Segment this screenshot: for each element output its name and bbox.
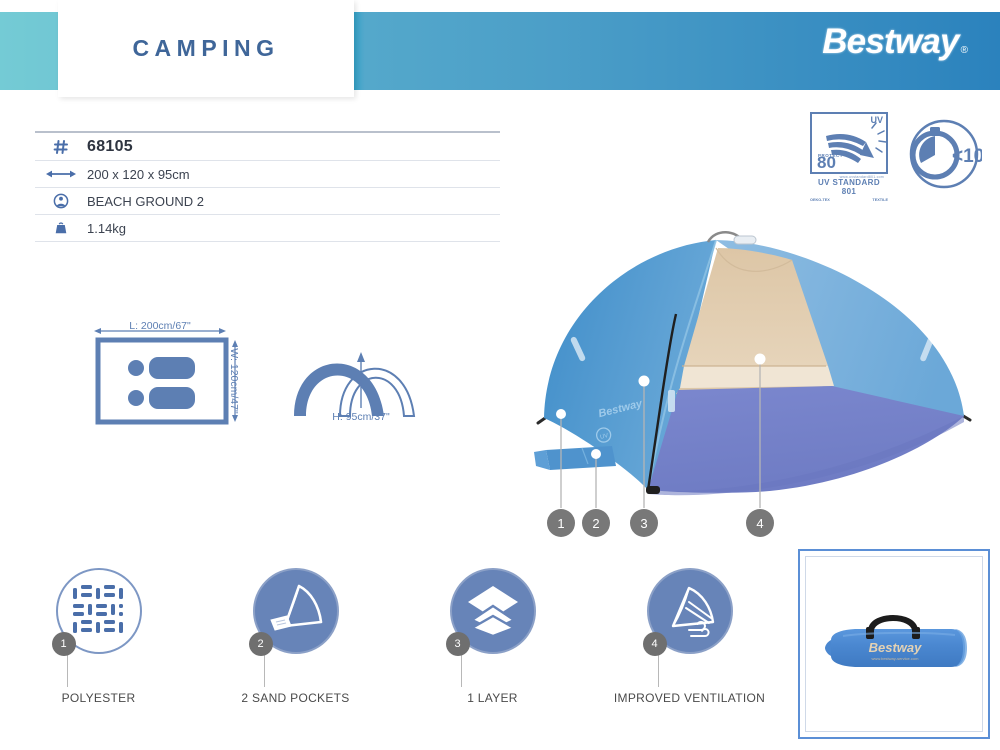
feature-label-layer: 1 LAYER (467, 691, 518, 705)
carry-bag-frame: Bestway www.bestway-service.com (798, 549, 990, 739)
carry-bag-brand: Bestway (869, 640, 923, 655)
product-callouts: 1 2 3 4 (547, 509, 774, 537)
product-spec-sheet: CAMPING Bestway ® 68105 (0, 0, 1000, 750)
table-row: 1.14kg (35, 215, 500, 242)
carry-bag-inner-frame: Bestway www.bestway-service.com (805, 556, 983, 732)
height-label: H: 95cm/37" (332, 411, 390, 423)
sand-pocket-icon (265, 582, 327, 640)
setup-time-label: <10' (952, 146, 982, 167)
feature-number-3: 3 (446, 632, 470, 656)
feature-leader-line-1 (67, 654, 68, 687)
product-weight: 1.14kg (87, 221, 126, 236)
setup-time-badge: <10' (902, 112, 982, 192)
height-dimensions-diagram: H: 95cm/37" (288, 330, 448, 435)
uv-badge-subline: OEKO-TEX TEXTILE (810, 198, 888, 202)
feature-label-sand-pockets: 2 SAND POCKETS (241, 691, 349, 705)
dimensions-icon (35, 168, 87, 180)
feature-item-sand-pockets: 2 2 SAND POCKETS (197, 568, 394, 705)
category-title-panel: CAMPING (58, 0, 354, 97)
floor-width-label: W: 120cm/47" (228, 348, 240, 414)
product-sku: 68105 (87, 138, 133, 156)
uv-standard-badge: UV PROTECT 80 (810, 112, 888, 202)
uv-protect-value: 80 (817, 154, 836, 171)
product-capacity: BEACH GROUND 2 (87, 194, 204, 209)
floor-length-label: L: 200cm/67" (129, 320, 191, 332)
feature-number-4: 4 (643, 632, 667, 656)
weight-icon (35, 220, 87, 236)
floor-dimensions-diagram: L: 200cm/67" W: 120cm/47" (88, 318, 258, 438)
layers-icon (464, 582, 522, 640)
feature-item-polyester: 1 POLYESTER (0, 568, 197, 705)
callout-label-1: 1 (557, 516, 564, 531)
feature-label-ventilation: IMPROVED VENTILATION (614, 691, 765, 705)
uv-sub-left: OEKO-TEX (810, 198, 830, 202)
brand-registered-mark: ® (961, 45, 968, 56)
callout-label-2: 2 (592, 516, 599, 531)
carry-bag-image: Bestway www.bestway-service.com (809, 560, 979, 728)
feature-leader-line-4 (658, 654, 659, 687)
certification-badges: UV PROTECT 80 (810, 112, 982, 202)
capacity-icon (35, 193, 87, 209)
feature-leader-line-2 (264, 654, 265, 687)
uv-sub-right: TEXTILE (872, 198, 888, 202)
product-dimensions: 200 x 120 x 95cm (87, 167, 190, 182)
page-title: CAMPING (132, 35, 279, 62)
feature-item-ventilation: 4 IMPROVED VENTILATION (591, 568, 788, 705)
svg-text:www.bestway-service.com: www.bestway-service.com (872, 656, 920, 661)
weave-pattern-icon (70, 582, 128, 640)
uv-standard-label: UV STANDARD 801 (810, 179, 888, 197)
callout-label-3: 3 (640, 516, 647, 531)
feature-list: 1 POLYESTER (0, 568, 790, 705)
brand-logo: Bestway ® (822, 22, 968, 62)
feature-item-layer: 3 1 LAYER (394, 568, 591, 705)
callout-label-4: 4 (756, 516, 763, 531)
table-row: 200 x 120 x 95cm (35, 161, 500, 188)
brand-logo-text: Bestway (822, 22, 958, 62)
feature-number-2: 2 (249, 632, 273, 656)
table-row: BEACH GROUND 2 (35, 188, 500, 215)
table-row: 68105 (35, 133, 500, 161)
specification-table: 68105 200 x 120 x 95cm BEACH GROUND (35, 131, 500, 242)
uv-badge-box: UV PROTECT 80 (810, 112, 888, 174)
feature-number-1: 1 (52, 632, 76, 656)
ventilation-icon (659, 582, 721, 640)
feature-label-polyester: POLYESTER (62, 691, 136, 705)
hash-icon (35, 139, 87, 155)
feature-leader-line-3 (461, 654, 462, 687)
page-header: CAMPING Bestway ® (0, 0, 1000, 100)
beach-tent-product-image: Bestway UV 1 (520, 218, 990, 553)
